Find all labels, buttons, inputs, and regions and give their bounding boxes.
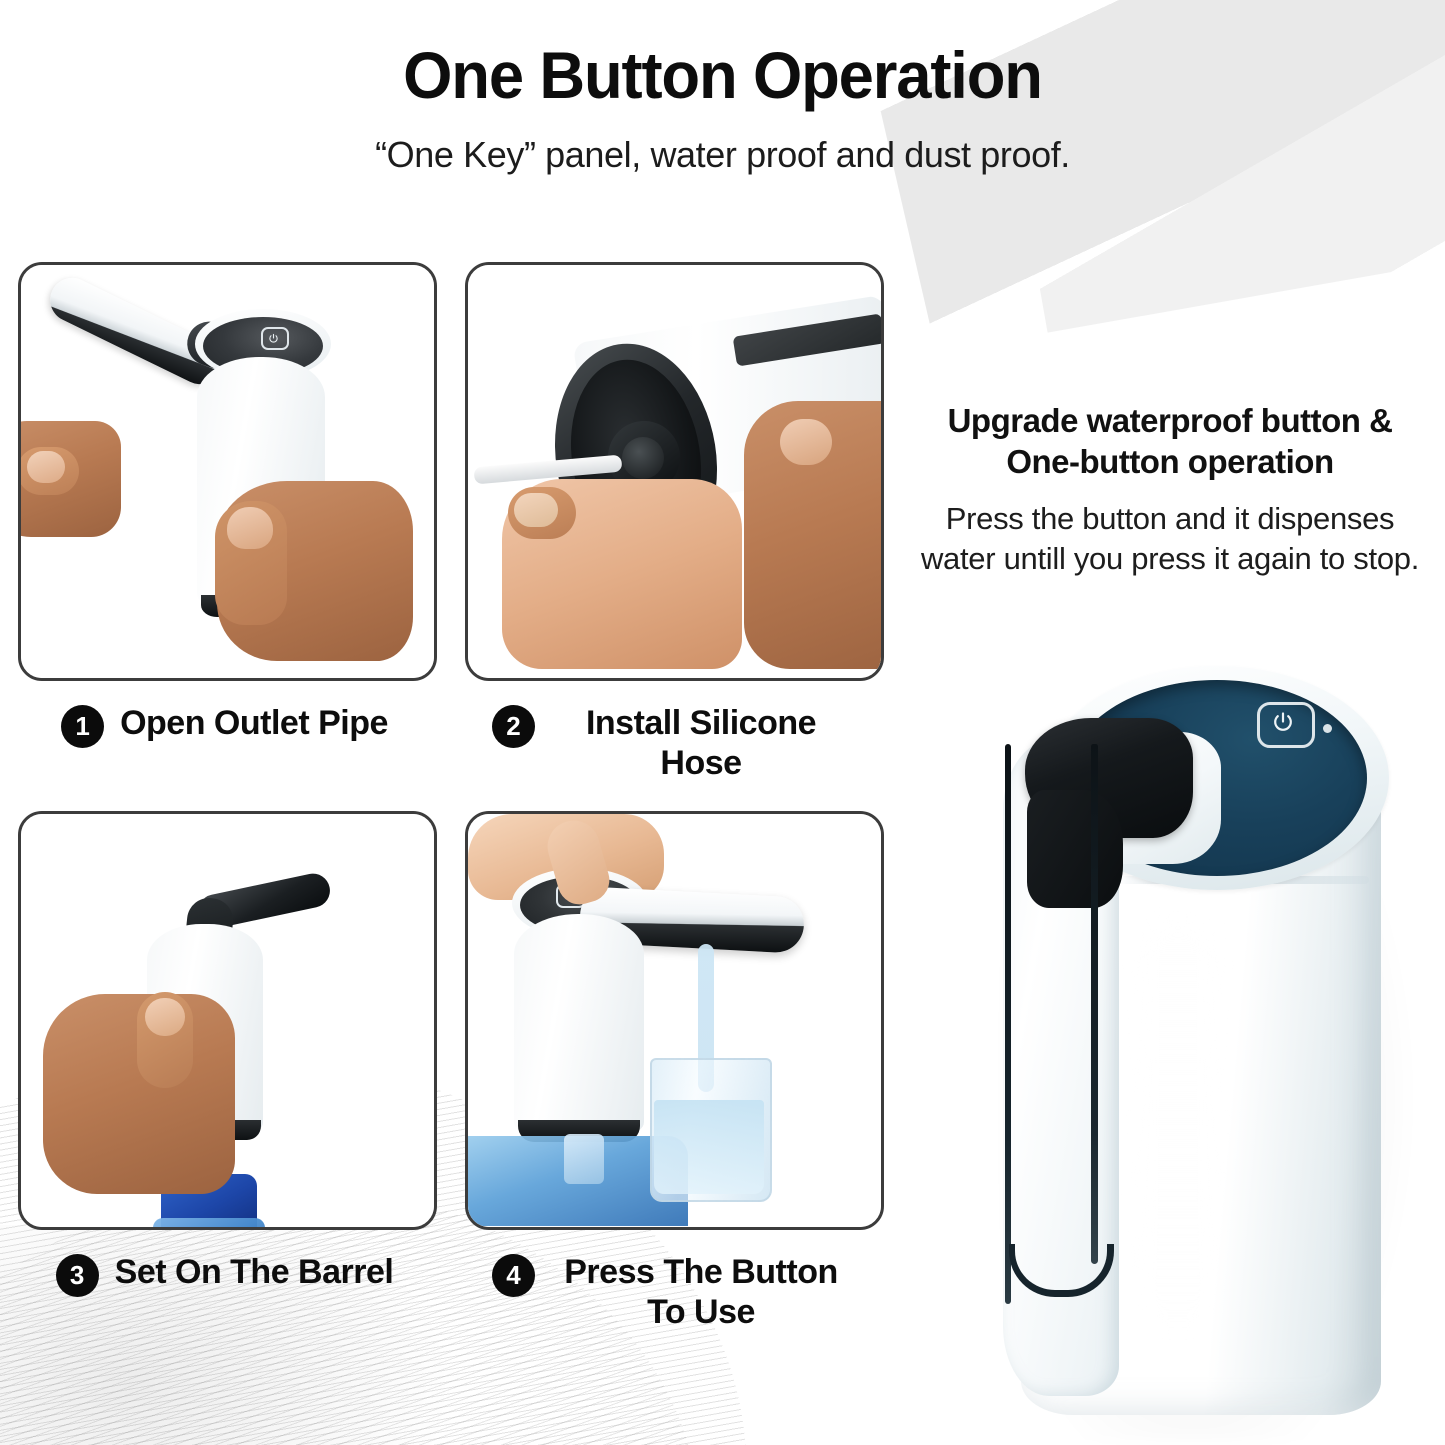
step-4: 4 Press The Button To Use	[465, 811, 878, 1332]
hero-product-image	[985, 640, 1445, 1445]
thumbnail	[145, 998, 185, 1036]
header: One Button Operation “One Key” panel, wa…	[0, 0, 1445, 176]
hero-spout-arm-front	[1027, 790, 1123, 908]
step-3-photo-frame	[18, 811, 437, 1230]
power-icon	[268, 331, 279, 342]
step-4-caption-text: Press The Button To Use	[551, 1252, 851, 1332]
step-3-number-badge: 3	[56, 1254, 99, 1297]
step-1-caption-text: Open Outlet Pipe	[120, 703, 388, 743]
right-thumbnail	[227, 507, 273, 549]
left-thumbnail	[27, 451, 65, 483]
feature-heading-line-2: One-button operation	[905, 441, 1435, 482]
step-4-number-badge: 4	[492, 1254, 535, 1297]
step-1-caption: 1 Open Outlet Pipe	[18, 703, 431, 748]
right-thumbnail	[780, 419, 832, 465]
step-2: 2 Install Silicone Hose	[465, 262, 878, 783]
power-icon	[1271, 710, 1295, 734]
steps-grid: 1 Open Outlet Pipe	[18, 262, 878, 1332]
feature-heading-line-1: Upgrade waterproof button &	[905, 400, 1435, 441]
step-4-caption: 4 Press The Button To Use	[465, 1252, 878, 1332]
step-4-photo-frame	[465, 811, 884, 1230]
step-4-photo	[468, 814, 881, 1227]
water-barrel-neck	[153, 1218, 265, 1230]
hero-body-highlight	[1135, 910, 1221, 1330]
page-subtitle: “One Key” panel, water proof and dust pr…	[0, 134, 1445, 176]
led-indicator-dot	[1323, 724, 1332, 733]
step-1-number-badge: 1	[61, 705, 104, 748]
step-3-photo	[21, 814, 434, 1227]
step-3-caption: 3 Set On The Barrel	[18, 1252, 431, 1297]
step-1-photo	[21, 265, 434, 678]
step-1: 1 Open Outlet Pipe	[18, 262, 431, 783]
step-2-number-badge: 2	[492, 705, 535, 748]
left-fingernail	[514, 493, 558, 527]
feature-body-text: Press the button and it dispenses water …	[905, 499, 1435, 580]
infographic-page: One Button Operation “One Key” panel, wa…	[0, 0, 1445, 1445]
steps-row-top: 1 Open Outlet Pipe	[18, 262, 878, 783]
steps-row-bottom: 3 Set On The Barrel	[18, 811, 878, 1332]
page-title: One Button Operation	[29, 42, 1416, 108]
hero-groove-left	[1005, 744, 1011, 1304]
step-3-caption-text: Set On The Barrel	[115, 1252, 394, 1292]
step-2-photo	[468, 265, 881, 678]
glass-water	[654, 1100, 764, 1194]
hero-groove-right	[1091, 744, 1098, 1264]
dispenser-body	[514, 914, 644, 1134]
step-1-photo-frame	[18, 262, 437, 681]
water-barrel-neck	[564, 1134, 604, 1184]
step-3: 3 Set On The Barrel	[18, 811, 431, 1332]
feature-text-block: Upgrade waterproof button & One-button o…	[905, 400, 1435, 579]
step-2-caption-text: Install Silicone Hose	[551, 703, 851, 783]
step-2-photo-frame	[465, 262, 884, 681]
step-2-caption: 2 Install Silicone Hose	[465, 703, 878, 783]
hose-connector-port	[622, 437, 664, 479]
